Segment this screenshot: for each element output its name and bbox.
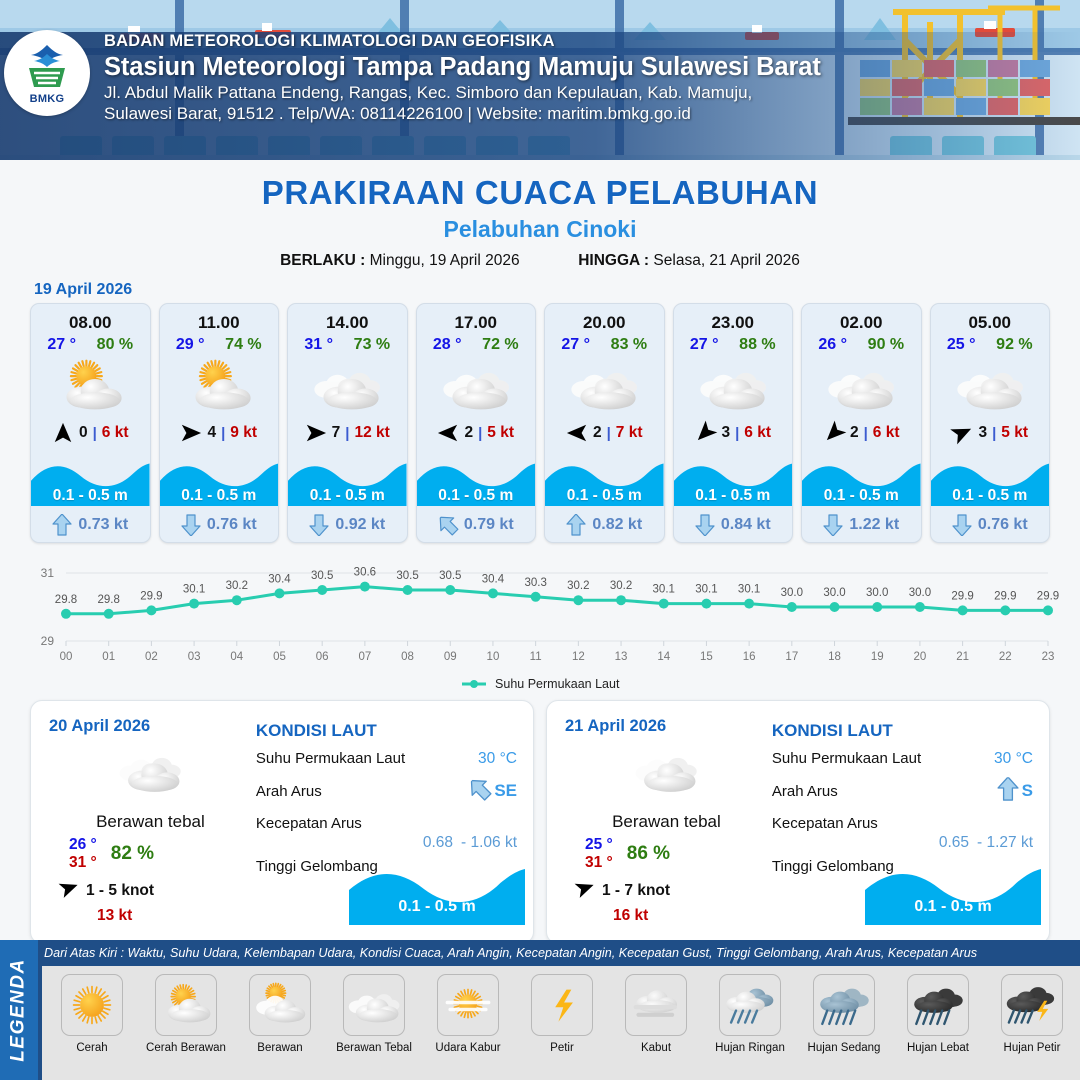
current-direction-arrow-icon [309,514,329,536]
daily-humidity: 86 % [627,843,670,865]
legend-item-label: Udara Kabur [435,1042,500,1054]
svg-text:29: 29 [41,634,55,648]
daily-temp-max: 31 ° [69,854,97,872]
card-humidity: 74 % [225,336,261,354]
forecast-card: 02.0026 °90 %2|6 kt0.1 - 0.5 m1.22 kt [801,303,922,543]
daily-summary-card: 20 April 2026Berawan tebal26 °31 °82 %1 … [30,700,534,944]
daily-wind-range: 1 - 7 knot [602,882,670,900]
svg-text:18: 18 [828,651,841,663]
gust-value: 6 kt [102,424,129,442]
card-weather-cloudy-icon [674,356,793,418]
daily-wind-direction-arrow-icon [59,878,79,903]
wind-speed-value: 2 [850,424,859,442]
gust-value: 5 kt [1001,424,1028,442]
legend-item-label: Cerah Berawan [146,1042,226,1054]
legend-item-label: Petir [550,1042,574,1054]
daily-temp-min: 26 ° [69,836,97,854]
current-speed-value: 0.76 kt [207,516,257,534]
svg-text:30.4: 30.4 [268,573,291,585]
svg-text:29.9: 29.9 [951,590,973,602]
legend-item: Berawan Tebal [330,974,418,1054]
wind-separator: | [607,425,611,442]
wind-direction-arrow-icon [694,422,716,444]
card-humidity: 88 % [739,336,775,354]
current-direction-value: S [1022,781,1033,801]
current-direction-value: SE [494,781,517,801]
header-text-block: BADAN METEOROLOGI KLIMATOLOGI DAN GEOFIS… [104,32,821,124]
legend-sunny-icon [61,974,123,1036]
current-speed-value: 0.73 kt [78,516,128,534]
card-humidity: 83 % [611,336,647,354]
sst-label: Suhu Permukaan Laut [772,750,921,767]
wave-height-value: 0.1 - 0.5 m [160,488,279,507]
wind-direction-arrow-icon [566,422,588,444]
legend-thunderstorm-icon [1001,974,1063,1036]
card-wave-zone: 0.1 - 0.5 m0.92 kt [288,448,407,542]
current-speed-range: 0.68- 1.06 kt [256,834,517,852]
wind-separator: | [478,425,482,442]
legend-item-label: Berawan Tebal [336,1042,412,1054]
daily-wave-value: 0.1 - 0.5 m [349,898,525,916]
sst-value: 30 °C [994,750,1033,768]
current-speed-value: 1.22 kt [849,516,899,534]
wind-separator: | [93,425,97,442]
current-speed-value: 0.82 kt [592,516,642,534]
agency-name: BADAN METEOROLOGI KLIMATOLOGI DAN GEOFIS… [104,32,821,51]
svg-text:17: 17 [785,651,798,663]
legend-item: Hujan Petir [988,974,1076,1054]
legend-item: Cerah Berawan [142,974,230,1054]
svg-text:30.5: 30.5 [439,570,461,582]
svg-text:30.0: 30.0 [909,587,931,599]
legend-item: Kabut [612,974,700,1054]
validity-period: BERLAKU : Minggu, 19 April 2026 HINGGA :… [0,252,1080,270]
svg-text:06: 06 [316,651,329,663]
current-direction-label: Arah Arus [256,783,322,800]
daily-wind-range: 1 - 5 knot [86,882,154,900]
legend-line-marker-icon [461,678,487,692]
legend-item-label: Hujan Ringan [715,1042,785,1054]
current-direction-block: S [997,777,1033,806]
wind-direction-arrow-icon [305,422,327,444]
card-wave-zone: 0.1 - 0.5 m0.79 kt [417,448,536,542]
current-direction-arrow-icon [438,514,458,536]
daily-summary-card: 21 April 2026Berawan tebal25 °31 °86 %1 … [546,700,1050,944]
legend-item: Hujan Sedang [800,974,888,1054]
svg-text:30.4: 30.4 [482,573,505,585]
current-speed-label: Kecepatan Arus [256,815,362,832]
svg-text:16: 16 [743,651,756,663]
daily-humidity: 82 % [111,843,154,865]
chart-legend-label: Suhu Permukaan Laut [495,677,619,691]
page-header: BMKG BADAN METEOROLOGI KLIMATOLOGI DAN G… [0,0,1080,160]
address-line-2: Sulawesi Barat, 91512 . Telp/WA: 0811422… [104,104,821,124]
wave-height-value: 0.1 - 0.5 m [417,488,536,507]
wind-separator: | [735,425,739,442]
svg-text:30.2: 30.2 [610,580,632,592]
svg-text:22: 22 [999,651,1012,663]
legend-item-label: Kabut [641,1042,671,1054]
wind-speed-value: 2 [593,424,602,442]
svg-text:29.9: 29.9 [994,590,1016,602]
gust-value: 12 kt [354,424,389,442]
card-time: 02.00 [802,304,921,333]
wave-height-value: 0.1 - 0.5 m [31,488,150,507]
svg-text:30.3: 30.3 [524,577,546,589]
legend-light-rain-icon [719,974,781,1036]
wind-speed-value: 2 [464,424,473,442]
wave-height-value: 0.1 - 0.5 m [674,488,793,507]
bmkg-logo-text: BMKG [30,93,65,105]
svg-text:10: 10 [487,651,500,663]
legend-icons-strip: CerahCerah BerawanBerawanBerawan TebalUd… [42,966,1080,1080]
gust-value: 7 kt [616,424,643,442]
gust-value: 5 kt [487,424,514,442]
card-weather-cloudy-icon [931,356,1050,418]
wind-speed-value: 3 [721,424,730,442]
card-temperature: 27 ° [690,336,719,354]
svg-text:14: 14 [657,651,670,663]
card-humidity: 80 % [97,336,133,354]
card-time: 17.00 [417,304,536,333]
legend-moderate-rain-icon [813,974,875,1036]
wind-direction-arrow-icon [823,422,845,444]
daily-weather-cloudy-icon [565,740,768,802]
hourly-forecast-row: 08.0027 °80 %0|6 kt0.1 - 0.5 m0.73 kt11.… [0,303,1080,543]
bmkg-emblem-icon [21,42,73,92]
svg-text:05: 05 [273,651,286,663]
card-weather-cloudy-icon [417,356,536,418]
current-speed-value: 0.79 kt [464,516,514,534]
card-time: 14.00 [288,304,407,333]
daily-temp-max: 31 ° [585,854,613,872]
svg-text:04: 04 [230,651,243,663]
daily-condition: Berawan tebal [565,812,768,832]
current-speed-max: - 1.27 kt [977,834,1033,851]
svg-text:21: 21 [956,651,969,663]
legend-heavy-rain-icon [907,974,969,1036]
legend-partly-cloudy-icon [155,974,217,1036]
card-weather-partly-cloudy-icon [160,356,279,418]
svg-text:30.0: 30.0 [866,587,888,599]
svg-text:23: 23 [1042,651,1055,663]
wind-separator: | [992,425,996,442]
wind-direction-arrow-icon [180,422,202,444]
valid-from-value: Minggu, 19 April 2026 [370,252,520,269]
card-time: 08.00 [31,304,150,333]
forecast-card: 23.0027 °88 %3|6 kt0.1 - 0.5 m0.84 kt [673,303,794,543]
card-temperature: 27 ° [561,336,590,354]
wave-height-value: 0.1 - 0.5 m [545,488,664,507]
current-speed-value: 0.92 kt [335,516,385,534]
svg-text:30.5: 30.5 [311,570,333,582]
svg-text:08: 08 [401,651,414,663]
card-time: 11.00 [160,304,279,333]
forecast-card: 17.0028 °72 %2|5 kt0.1 - 0.5 m0.79 kt [416,303,537,543]
svg-text:30.0: 30.0 [781,587,803,599]
card-temperature: 29 ° [176,336,205,354]
legend-item: Berawan [236,974,324,1054]
daily-current-arrow-icon [469,777,491,806]
svg-text:03: 03 [188,651,201,663]
daily-summary-row: 20 April 2026Berawan tebal26 °31 °82 %1 … [0,692,1080,944]
card-humidity: 90 % [868,336,904,354]
wind-speed-value: 7 [332,424,341,442]
forecast-card: 05.0025 °92 %3|5 kt0.1 - 0.5 m0.76 kt [930,303,1051,543]
svg-text:13: 13 [615,651,628,663]
wave-height-value: 0.1 - 0.5 m [931,488,1050,507]
wave-height-value: 0.1 - 0.5 m [288,488,407,507]
current-speed-min: 0.65 [939,834,969,851]
gust-value: 6 kt [744,424,771,442]
forecast-card: 11.0029 °74 %4|9 kt0.1 - 0.5 m0.76 kt [159,303,280,543]
daily-gust: 13 kt [49,907,252,925]
svg-text:30.2: 30.2 [226,580,248,592]
current-speed-value: 0.76 kt [978,516,1028,534]
daily-wave-value: 0.1 - 0.5 m [865,898,1041,916]
gust-value: 9 kt [230,424,257,442]
wind-separator: | [221,425,225,442]
current-speed-range: 0.65- 1.27 kt [772,834,1033,852]
current-speed-value: 0.84 kt [721,516,771,534]
svg-text:31: 31 [41,566,55,580]
card-temperature: 28 ° [433,336,462,354]
address-line-1: Jl. Abdul Malik Pattana Endeng, Rangas, … [104,83,821,103]
daily-date: 21 April 2026 [565,717,768,736]
legend-cloudy-icon [343,974,405,1036]
svg-text:20: 20 [914,651,927,663]
card-humidity: 92 % [996,336,1032,354]
card-time: 20.00 [545,304,664,333]
daily-wind-direction-arrow-icon [575,878,595,903]
svg-text:30.1: 30.1 [183,584,205,596]
svg-text:00: 00 [60,651,73,663]
card-humidity: 72 % [482,336,518,354]
svg-text:02: 02 [145,651,158,663]
card-temperature: 31 ° [304,336,333,354]
svg-text:01: 01 [102,651,115,663]
legend-item-label: Hujan Sedang [808,1042,881,1054]
legend-item: Udara Kabur [424,974,512,1054]
current-direction-arrow-icon [566,514,586,536]
legend-item-label: Hujan Petir [1004,1042,1061,1054]
card-wave-zone: 0.1 - 0.5 m0.76 kt [160,448,279,542]
current-direction-arrow-icon [695,514,715,536]
svg-text:29.9: 29.9 [140,590,162,602]
sst-chart: 2931000102030405060708091011121314151617… [10,557,1070,675]
legend-section: LEGENDA Dari Atas Kiri : Waktu, Suhu Uda… [0,940,1080,1080]
forecast-card: 20.0027 °83 %2|7 kt0.1 - 0.5 m0.82 kt [544,303,665,543]
card-wave-zone: 0.1 - 0.5 m0.84 kt [674,448,793,542]
svg-text:30.0: 30.0 [823,587,845,599]
current-direction-label: Arah Arus [772,783,838,800]
card-wave-zone: 0.1 - 0.5 m0.82 kt [545,448,664,542]
card-temperature: 26 ° [818,336,847,354]
legend-item-label: Berawan [257,1042,302,1054]
svg-text:29.8: 29.8 [98,594,120,606]
card-time: 05.00 [931,304,1050,333]
sea-condition-title: KONDISI LAUT [772,721,1033,741]
wind-speed-value: 4 [207,424,216,442]
wind-separator: | [345,425,349,442]
daily-wave-badge: 0.1 - 0.5 m [865,869,1041,925]
card-wave-zone: 0.1 - 0.5 m0.73 kt [31,448,150,542]
port-name: Pelabuhan Cinoki [0,216,1080,243]
sst-value: 30 °C [478,750,517,768]
wind-speed-value: 3 [978,424,987,442]
legend-lightning-icon [531,974,593,1036]
daily-current-arrow-icon [997,777,1019,806]
legend-mostly-cloudy-icon [249,974,311,1036]
svg-text:30.5: 30.5 [396,570,418,582]
svg-text:09: 09 [444,651,457,663]
card-weather-partly-cloudy-icon [31,356,150,418]
card-wave-zone: 0.1 - 0.5 m0.76 kt [931,448,1050,542]
card-humidity: 73 % [354,336,390,354]
card-weather-cloudy-icon [802,356,921,418]
wind-direction-arrow-icon [951,422,973,444]
wind-separator: | [864,425,868,442]
daily-wave-badge: 0.1 - 0.5 m [349,869,525,925]
card-weather-cloudy-icon [545,356,664,418]
station-name: Stasiun Meteorologi Tampa Padang Mamuju … [104,53,821,82]
current-direction-arrow-icon [952,514,972,536]
current-direction-block: SE [469,777,517,806]
svg-text:30.6: 30.6 [354,567,376,579]
svg-text:30.1: 30.1 [695,584,717,596]
daily-date: 20 April 2026 [49,717,252,736]
legend-item: Hujan Lebat [894,974,982,1054]
forecast-card: 14.0031 °73 %7|12 kt0.1 - 0.5 m0.92 kt [287,303,408,543]
svg-text:29.8: 29.8 [55,594,77,606]
svg-text:29.9: 29.9 [1037,590,1059,602]
svg-text:30.1: 30.1 [653,584,675,596]
svg-text:19: 19 [871,651,884,663]
current-speed-min: 0.68 [423,834,453,851]
daily-condition: Berawan tebal [49,812,252,832]
svg-text:11: 11 [530,651,542,663]
card-temperature: 27 ° [47,336,76,354]
page-title: PRAKIRAAN CUACA PELABUHAN [0,174,1080,212]
svg-text:07: 07 [358,651,371,663]
chart-legend: Suhu Permukaan Laut [0,677,1080,692]
card-wave-zone: 0.1 - 0.5 m1.22 kt [802,448,921,542]
legend-side-title: LEGENDA [0,940,38,1080]
current-direction-arrow-icon [52,514,72,536]
current-speed-max: - 1.06 kt [461,834,517,851]
legend-side-title-text: LEGENDA [8,958,30,1061]
card-time: 23.00 [674,304,793,333]
sea-condition-title: KONDISI LAUT [256,721,517,741]
legend-haze-icon [437,974,499,1036]
svg-text:30.2: 30.2 [567,580,589,592]
current-direction-arrow-icon [181,514,201,536]
wind-speed-value: 0 [79,424,88,442]
legend-note: Dari Atas Kiri : Waktu, Suhu Udara, Kele… [44,946,977,960]
daily-weather-cloudy-icon [49,740,252,802]
legend-item: Hujan Ringan [706,974,794,1054]
gust-value: 6 kt [873,424,900,442]
bmkg-logo: BMKG [4,30,90,116]
current-speed-label: Kecepatan Arus [772,815,878,832]
legend-item-label: Cerah [76,1042,107,1054]
wind-direction-arrow-icon [437,422,459,444]
svg-text:15: 15 [700,651,713,663]
valid-from-label: BERLAKU : [280,252,365,269]
sst-label: Suhu Permukaan Laut [256,750,405,767]
current-direction-arrow-icon [823,514,843,536]
daily-temp-min: 25 ° [585,836,613,854]
forecast-date: 19 April 2026 [34,281,1080,299]
valid-to-label: HINGGA : [578,252,649,269]
forecast-card: 08.0027 °80 %0|6 kt0.1 - 0.5 m0.73 kt [30,303,151,543]
svg-text:12: 12 [572,651,585,663]
svg-text:30.1: 30.1 [738,584,760,596]
wind-direction-arrow-icon [52,422,74,444]
card-temperature: 25 ° [947,336,976,354]
card-weather-cloudy-icon [288,356,407,418]
wave-height-value: 0.1 - 0.5 m [802,488,921,507]
legend-item: Petir [518,974,606,1054]
daily-gust: 16 kt [565,907,768,925]
valid-to-value: Selasa, 21 April 2026 [653,252,800,269]
legend-item: Cerah [48,974,136,1054]
legend-item-label: Hujan Lebat [907,1042,969,1054]
legend-fog-icon [625,974,687,1036]
